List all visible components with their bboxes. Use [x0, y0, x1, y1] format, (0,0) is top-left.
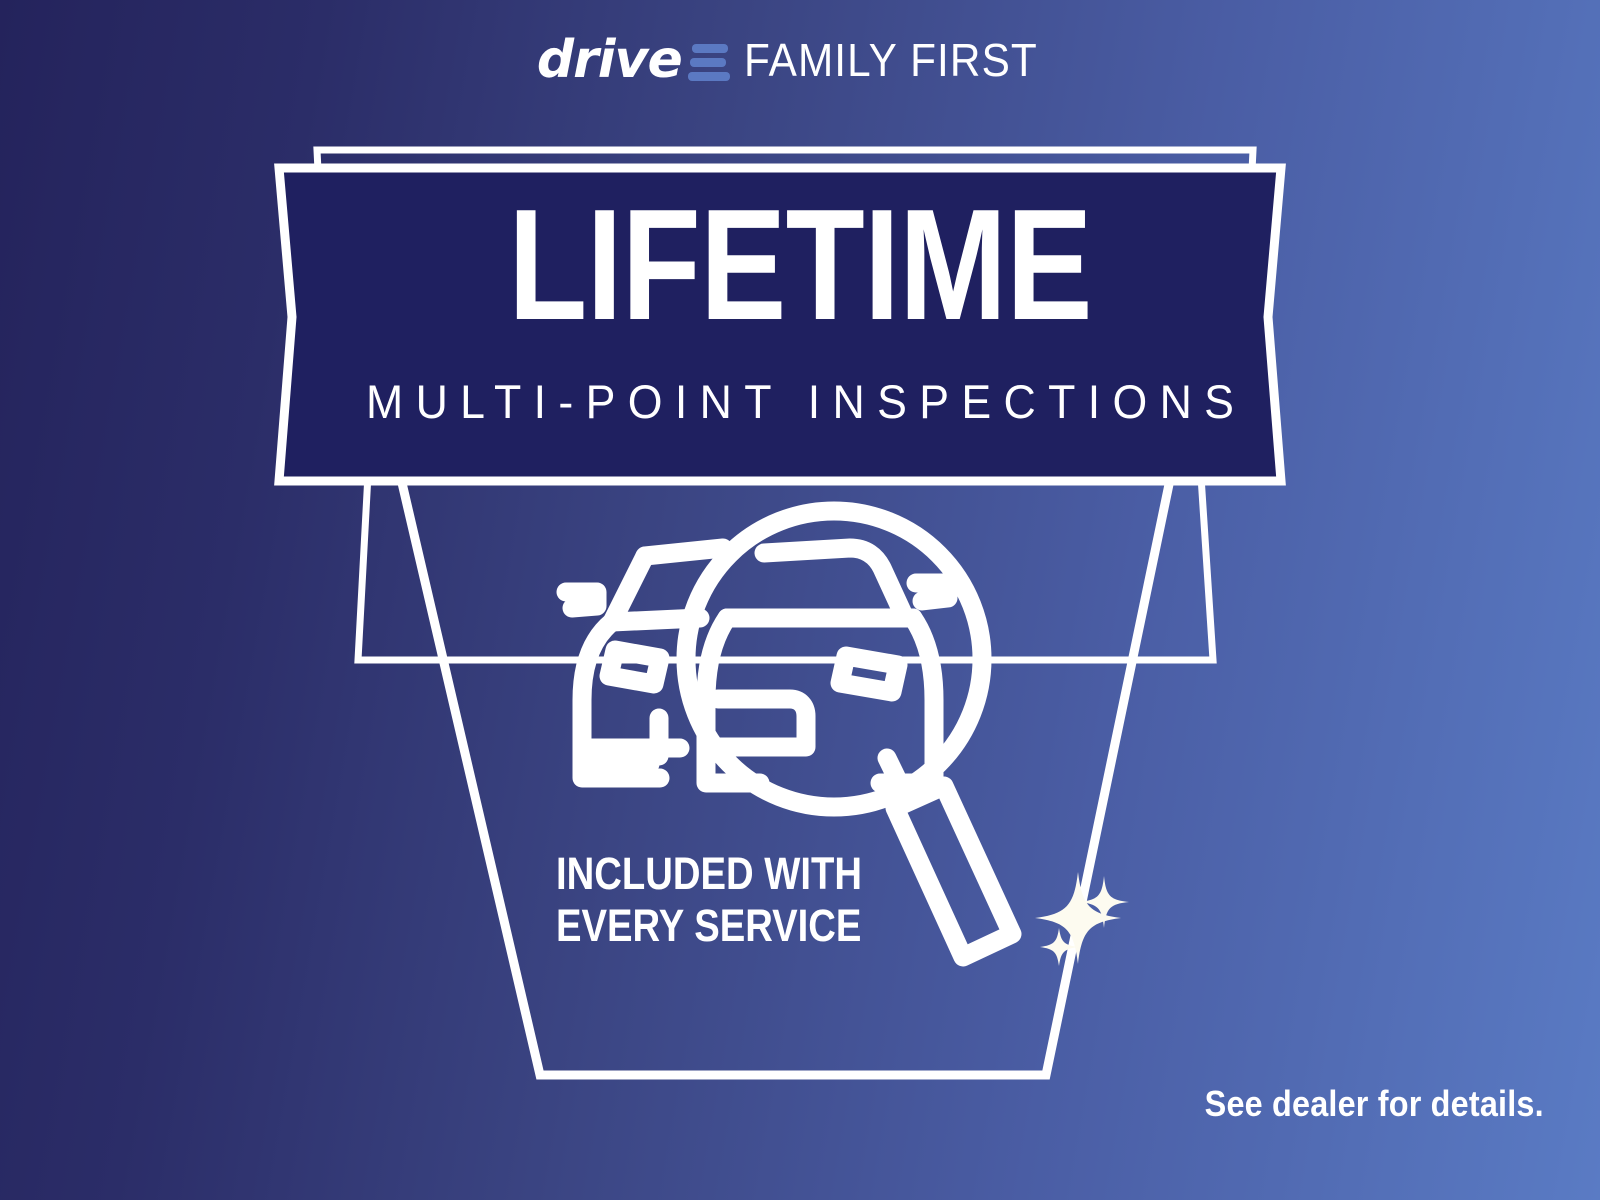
- disclaimer-text: See dealer for details.: [1205, 1086, 1544, 1122]
- promo-line-2: EVERY SERVICE: [556, 900, 862, 952]
- sparkle-large: [1035, 872, 1121, 964]
- car-right-grille: [718, 699, 806, 747]
- car-right-body-right: [913, 618, 934, 760]
- magnifier-handle: [895, 786, 1012, 957]
- promo-text: INCLUDED WITH EVERY SERVICE: [556, 848, 862, 952]
- badge-headline: LIFETIME: [144, 186, 1456, 344]
- car-left-headlight: [609, 650, 660, 684]
- promo-line-1: INCLUDED WITH: [556, 848, 862, 900]
- car-left-mirror: [566, 592, 597, 608]
- car-right-mirror: [916, 583, 948, 601]
- badge-subhead: MULTI-POINT INSPECTIONS: [40, 378, 1560, 425]
- car-right-roofline: [764, 548, 905, 618]
- car-left-roofline: [645, 548, 723, 556]
- car-right-headlight: [840, 656, 898, 692]
